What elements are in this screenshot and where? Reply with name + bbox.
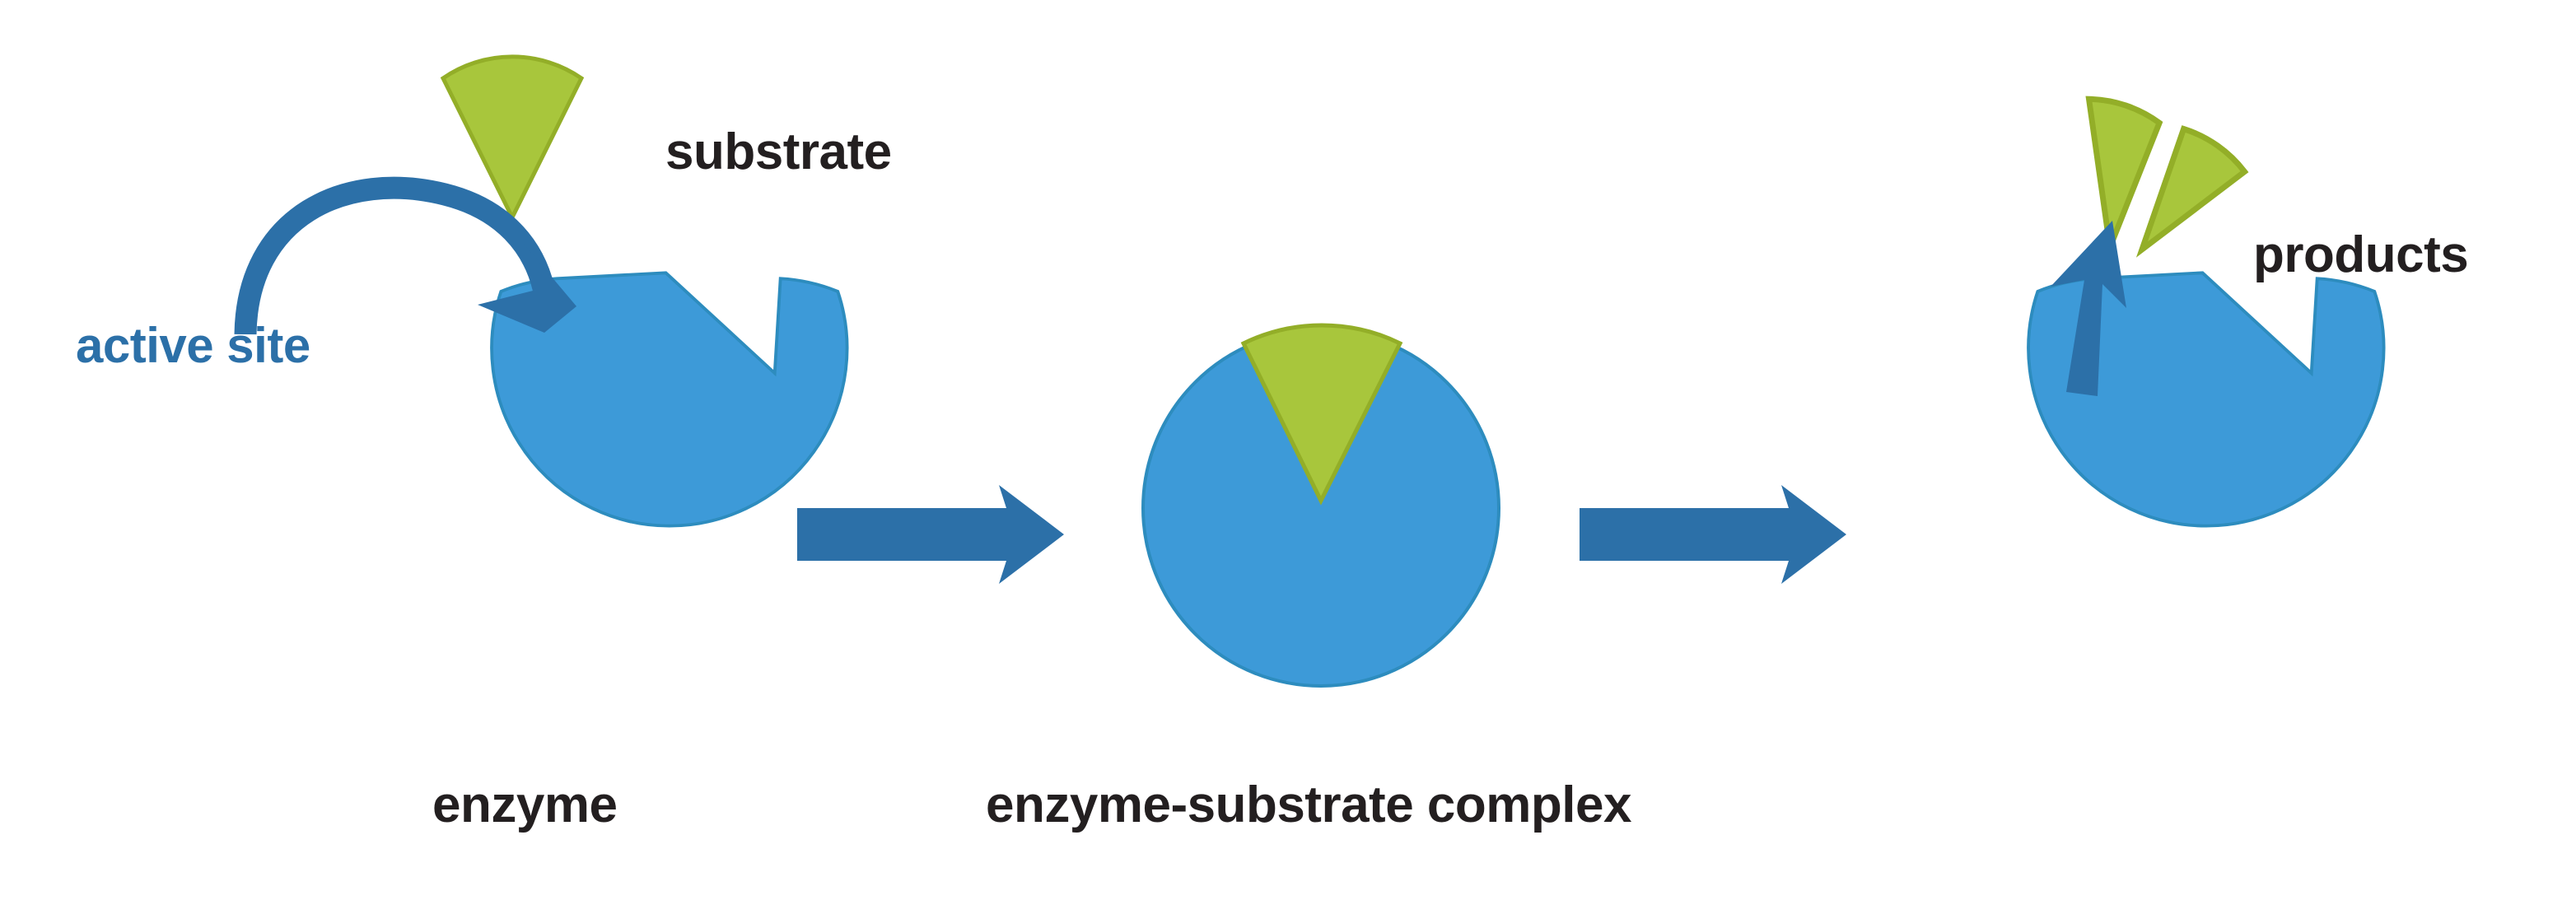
right-arrow-icon-1 xyxy=(797,485,1064,584)
complex-caption: enzyme-substrate complex xyxy=(986,777,1632,833)
diagram-canvas: active site substrate enzyme enzyme-subs… xyxy=(0,0,2576,919)
enzyme-caption: enzyme xyxy=(432,777,617,833)
stage-enzyme-substrate-complex xyxy=(1143,325,1499,686)
curved-arrow-icon xyxy=(245,188,576,334)
products-label: products xyxy=(2253,226,2468,283)
right-arrow-icon-2 xyxy=(1580,485,1846,584)
active-site-label: active site xyxy=(76,318,310,373)
product-wedge-right xyxy=(2142,126,2248,259)
substrate-label: substrate xyxy=(665,124,892,180)
enzyme-reaction-diagram: active site substrate enzyme enzyme-subs… xyxy=(0,0,2576,919)
